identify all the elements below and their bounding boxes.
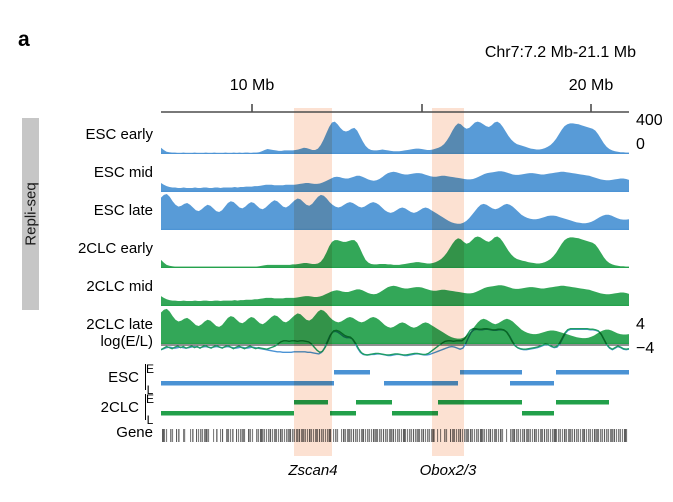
gene-tick — [409, 429, 411, 442]
gene-tick — [534, 429, 536, 442]
gene-tick — [618, 429, 620, 442]
figure-panel: a Chr7:7.2 Mb-21.1 Mb 10 Mb 20 Mb Repli-… — [0, 0, 673, 502]
gene-tick — [423, 429, 424, 442]
gene-tick — [490, 429, 491, 442]
gene-tick — [299, 429, 300, 442]
gene-tick — [602, 429, 603, 442]
gene-tick — [357, 429, 358, 442]
gene-tick — [433, 429, 435, 442]
gene-tick — [323, 429, 324, 442]
gene-tick — [484, 429, 485, 442]
gene-tick — [276, 429, 277, 442]
gene-tick — [375, 429, 377, 442]
gene-tick — [198, 429, 199, 442]
domain-row-esc — [0, 368, 673, 394]
gene-tick — [248, 429, 250, 442]
gene-tick — [506, 429, 507, 442]
gene-tick — [183, 429, 185, 442]
gene-tick — [616, 429, 617, 442]
gene-tick — [369, 429, 370, 442]
gene-tick — [292, 429, 294, 442]
signal-track-esc-early — [161, 118, 629, 154]
gene-tick — [538, 429, 539, 442]
signal-track-esc-mid — [161, 156, 629, 192]
gene-tick — [564, 429, 566, 442]
gene-tick — [264, 429, 265, 442]
track-label-2clc-early: 2CLC early — [78, 240, 153, 257]
gene-tick — [560, 429, 561, 442]
gene-tick — [190, 429, 191, 442]
gene-tick — [584, 429, 585, 442]
gene-tick — [228, 429, 229, 442]
gene-tick — [572, 429, 573, 442]
gene-tick — [367, 429, 369, 442]
domain-segment-late — [161, 381, 298, 386]
gene-tick — [401, 429, 402, 442]
gene-tick — [355, 429, 357, 442]
gene-tick — [472, 429, 473, 442]
domain-segment-late — [522, 411, 554, 416]
domain-row-label-2clc: 2CLC — [101, 399, 139, 416]
gene-tick — [373, 429, 375, 442]
gene-tick — [427, 429, 429, 442]
genomic-coordinates: Chr7:7.2 Mb-21.1 Mb — [485, 44, 636, 62]
gene-tick — [546, 429, 548, 442]
domain-segment-early — [556, 400, 609, 405]
gene-tick — [333, 429, 334, 442]
gene-tick — [297, 429, 299, 442]
gene-tick — [381, 429, 382, 442]
gene-tick — [528, 429, 530, 442]
gene-tick — [498, 429, 499, 442]
domain-segment-late — [510, 381, 554, 386]
gene-tick — [502, 429, 503, 442]
gene-tick — [280, 429, 282, 442]
gene-tick — [437, 429, 438, 442]
gene-tick — [624, 429, 626, 442]
axis-tick-label-20mb: 20 Mb — [569, 77, 613, 95]
gene-tick — [612, 429, 614, 442]
gene-tick — [421, 429, 423, 442]
gene-tick — [415, 429, 417, 442]
right-scale-repliseq-max: 400 — [636, 112, 663, 130]
gene-tick — [518, 429, 519, 442]
track-label-esc-mid: ESC mid — [94, 164, 153, 181]
gene-tick — [262, 429, 264, 442]
gene-tick — [216, 429, 218, 442]
gene-tick — [524, 429, 525, 442]
track-label-2clc-late: 2CLC late — [86, 316, 153, 333]
gene-tick — [294, 429, 295, 442]
gene-tick — [305, 429, 306, 442]
gene-tick — [403, 429, 405, 442]
gene-tick — [345, 429, 346, 442]
gene-tick — [548, 429, 549, 442]
gene-tick — [614, 429, 615, 442]
gene-tick — [164, 429, 165, 442]
gene-tick — [536, 429, 537, 442]
genomic-axis — [0, 100, 673, 120]
gene-name-zscan4: Zscan4 — [288, 462, 337, 479]
gene-tick — [594, 429, 596, 442]
gene-tick — [353, 429, 354, 442]
gene-tick — [558, 429, 560, 442]
gene-tick — [600, 429, 602, 442]
gene-tick — [488, 429, 490, 442]
gene-tick — [482, 429, 484, 442]
log-el-series-esc — [161, 329, 629, 355]
gene-tick — [395, 429, 396, 442]
gene-tick — [313, 429, 314, 442]
gene-tick — [192, 429, 194, 442]
gene-tick — [272, 429, 273, 442]
gene-tick — [598, 429, 599, 442]
gene-tick — [620, 429, 621, 442]
track-label-gene: Gene — [116, 424, 153, 441]
gene-tick — [562, 429, 563, 442]
gene-tick — [230, 429, 231, 442]
gene-tick — [258, 429, 259, 442]
gene-tick — [371, 429, 372, 442]
gene-tick — [500, 429, 502, 442]
gene-tick — [296, 429, 297, 442]
gene-tick — [550, 429, 551, 442]
gene-tick — [176, 429, 177, 442]
gene-tick — [385, 429, 387, 442]
gene-tick — [522, 429, 524, 442]
gene-tick — [590, 429, 591, 442]
gene-tick — [178, 429, 180, 442]
gene-tick — [460, 429, 461, 442]
domain-segment-early — [356, 400, 392, 405]
gene-tick — [290, 429, 291, 442]
gene-tick — [570, 429, 572, 442]
domain-segment-early — [438, 400, 522, 405]
gene-tick — [556, 429, 557, 442]
gene-tick — [425, 429, 426, 442]
gene-tick — [170, 429, 172, 442]
right-scale-repliseq-min: 0 — [636, 136, 645, 154]
gene-tick — [222, 429, 223, 442]
gene-tick — [397, 429, 399, 442]
gene-tick — [351, 429, 352, 442]
domain-segment-late — [330, 411, 356, 416]
gene-tick — [327, 429, 329, 442]
gene-tick — [462, 429, 463, 442]
gene-tick — [317, 429, 318, 442]
gene-tick — [389, 429, 391, 442]
gene-tick — [622, 429, 623, 442]
log-el-series-2clc — [161, 329, 629, 355]
gene-tick — [213, 429, 214, 442]
gene-tick — [606, 429, 608, 442]
gene-tick — [303, 429, 305, 442]
log-el-line-plot — [161, 324, 629, 366]
gene-tick — [399, 429, 400, 442]
gene-tick — [204, 429, 206, 442]
gene-tick — [252, 429, 253, 442]
gene-tick — [468, 429, 469, 442]
gene-tick — [405, 429, 406, 442]
domain-segment-early — [556, 370, 629, 375]
gene-tick — [419, 429, 420, 442]
gene-tick — [610, 429, 612, 442]
gene-tick — [578, 429, 579, 442]
gene-tick — [266, 429, 267, 442]
gene-name-obox2-3: Obox2/3 — [420, 462, 477, 479]
track-label-2clc-mid: 2CLC mid — [86, 278, 153, 295]
gene-tick — [315, 429, 317, 442]
gene-tick — [494, 429, 496, 442]
gene-tick — [256, 429, 258, 442]
gene-tick — [341, 429, 342, 442]
gene-tick — [431, 429, 433, 442]
el-brace-esc — [145, 364, 146, 390]
gene-tick — [311, 429, 312, 442]
gene-tick — [387, 429, 388, 442]
gene-tick — [301, 429, 303, 442]
gene-tick — [411, 429, 412, 442]
domain-segment-late — [392, 411, 438, 416]
gene-tick — [446, 429, 447, 442]
gene-tick — [282, 429, 283, 442]
gene-tick — [274, 429, 276, 442]
repliseq-group-label: Repli-seq — [22, 182, 39, 245]
gene-tick — [391, 429, 393, 442]
el-brace-2clc — [145, 394, 146, 420]
gene-tick — [363, 429, 364, 442]
gene-tick — [413, 429, 414, 442]
gene-tick — [379, 429, 381, 442]
gene-tick — [337, 429, 338, 442]
axis-tick-label-10mb: 10 Mb — [230, 77, 274, 95]
gene-tick — [286, 429, 288, 442]
gene-tick — [450, 429, 451, 442]
gene-tick — [206, 429, 208, 442]
gene-tick — [166, 429, 167, 442]
right-scale-logel-max: 4 — [636, 316, 645, 334]
right-scale-logel-min: −4 — [636, 340, 654, 358]
gene-tick — [476, 429, 478, 442]
gene-tick — [444, 429, 446, 442]
gene-tick — [335, 429, 337, 442]
gene-tick — [454, 429, 455, 442]
gene-tick — [347, 429, 349, 442]
gene-tick — [480, 429, 482, 442]
gene-tick — [530, 429, 531, 442]
gene-tick — [393, 429, 394, 442]
gene-tick — [270, 429, 271, 442]
gene-tick — [520, 429, 521, 442]
domain-segment-late — [161, 411, 294, 416]
gene-tick — [377, 429, 378, 442]
gene-tick — [608, 429, 609, 442]
domain-segment-early — [294, 400, 328, 405]
gene-tick — [284, 429, 285, 442]
signal-track-2clc-early — [161, 232, 629, 268]
gene-tick — [232, 429, 234, 442]
gene-tick — [240, 429, 242, 442]
domain-segment-early — [460, 370, 522, 375]
gene-tick — [596, 429, 598, 442]
gene-tick — [492, 429, 493, 442]
gene-tick — [202, 429, 203, 442]
gene-tick — [226, 429, 228, 442]
gene-tick — [568, 429, 570, 442]
gene-tick — [470, 429, 472, 442]
gene-density-track — [0, 426, 673, 446]
gene-tick — [566, 429, 567, 442]
gene-tick — [236, 429, 237, 442]
gene-tick — [329, 429, 331, 442]
domain-segment-early — [334, 370, 370, 375]
gene-tick — [417, 429, 419, 442]
panel-letter: a — [18, 28, 30, 52]
gene-tick — [604, 429, 605, 442]
gene-tick — [554, 429, 556, 442]
gene-tick — [626, 429, 627, 442]
gene-tick — [510, 429, 512, 442]
signal-track-2clc-mid — [161, 270, 629, 306]
gene-tick — [592, 429, 593, 442]
gene-tick — [244, 429, 245, 442]
gene-tick — [512, 429, 514, 442]
track-label-esc-late: ESC late — [94, 202, 153, 219]
gene-tick — [452, 429, 454, 442]
gene-tick — [242, 429, 244, 442]
gene-tick — [361, 429, 363, 442]
gene-tick — [486, 429, 487, 442]
gene-tick — [325, 429, 326, 442]
gene-tick — [288, 429, 290, 442]
gene-tick — [278, 429, 279, 442]
gene-tick — [407, 429, 408, 442]
gene-tick — [321, 429, 323, 442]
gene-tick — [343, 429, 345, 442]
gene-tick — [582, 429, 584, 442]
gene-tick — [526, 429, 528, 442]
gene-tick — [576, 429, 578, 442]
domain-row-label-esc: ESC — [108, 369, 139, 386]
gene-tick — [429, 429, 430, 442]
track-label-log-el: log(E/L) — [100, 333, 153, 350]
gene-tick — [359, 429, 360, 442]
gene-tick — [588, 429, 590, 442]
domain-segment-late — [384, 381, 458, 386]
gene-tick — [208, 429, 209, 442]
gene-tick — [319, 429, 320, 442]
gene-tick — [307, 429, 308, 442]
gene-tick — [552, 429, 554, 442]
gene-tick — [458, 429, 460, 442]
gene-tick — [456, 429, 457, 442]
gene-tick — [516, 429, 518, 442]
gene-tick — [196, 429, 197, 442]
gene-tick — [172, 429, 173, 442]
gene-tick — [580, 429, 581, 442]
gene-tick — [365, 429, 366, 442]
gene-tick — [349, 429, 351, 442]
gene-tick — [474, 429, 475, 442]
gene-tick — [586, 429, 587, 442]
gene-tick — [250, 429, 251, 442]
gene-tick — [532, 429, 533, 442]
gene-tick — [260, 429, 262, 442]
gene-tick — [540, 429, 542, 442]
gene-tick — [574, 429, 575, 442]
repliseq-group-bar: Repli-seq — [22, 118, 39, 310]
gene-tick — [542, 429, 543, 442]
gene-tick — [200, 429, 202, 442]
gene-tick — [544, 429, 545, 442]
track-label-esc-early: ESC early — [85, 126, 153, 143]
signal-track-esc-late — [161, 194, 629, 230]
domain-segment-late — [298, 381, 334, 386]
gene-tick — [162, 429, 164, 442]
gene-tick — [440, 429, 441, 442]
gene-tick — [220, 429, 221, 442]
gene-tick — [478, 429, 479, 442]
gene-tick — [514, 429, 515, 442]
gene-tick — [309, 429, 311, 442]
gene-tick — [464, 429, 466, 442]
gene-tick — [496, 429, 497, 442]
gene-tick — [466, 429, 468, 442]
gene-tick — [238, 429, 239, 442]
gene-tick — [383, 429, 384, 442]
gene-tick — [268, 429, 270, 442]
